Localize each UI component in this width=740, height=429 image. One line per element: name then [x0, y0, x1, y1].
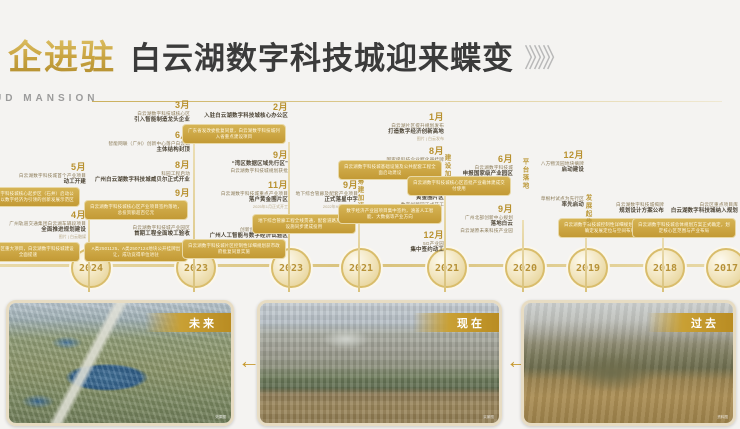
timeline-year-node[interactable]: 2018 — [645, 248, 685, 288]
event-line2: 主体结构封顶 — [82, 147, 190, 154]
photo-credit: 效果图 — [215, 415, 226, 420]
timeline-event[interactable]: 白云湖数字科技城产业园区 首期工程全面竣工验收 — [82, 225, 190, 238]
event-line2: 动工开建 — [0, 179, 86, 186]
year-label: 2023 — [279, 263, 303, 274]
event-month: 2月 — [180, 102, 288, 113]
timeline-stem — [662, 236, 664, 292]
timeline-event[interactable]: 2月 入驻白云湖数字科技城核心办公区 — [180, 102, 288, 120]
timeline-chip[interactable]: 白云湖数字科技城核心区首批产业载体建成交付使用 — [407, 176, 511, 196]
timeline-event[interactable]: 9月 — [82, 188, 190, 199]
event-line2: 黄金围片区 — [336, 195, 444, 202]
chevron-right-icon: 》》》 — [524, 38, 564, 75]
chip-text: 白云湖数字科技城核心起步区（石井）启动公示，打造以数字经济为引领的创新发展示范区 — [0, 191, 75, 203]
event-line2: 广州白云湖数字科技城威贝尔正式开业 — [82, 177, 190, 184]
year-label: 2021 — [349, 263, 373, 274]
chip-text: 白云湖数字科技城核心区产业项目签约落地，总投资额超百亿元 — [89, 204, 183, 216]
timeline-event[interactable]: 3月 白云湖数字科技城核心区 引入智能制造龙头企业 — [82, 100, 190, 124]
photo-panel-past[interactable]: 过去 资料图 — [521, 300, 736, 426]
event-line2: 入驻白云湖数字科技城核心办公区 — [180, 113, 288, 120]
headline-gold-text: 企进驻 — [0, 30, 116, 79]
panel-tag-past: 过去 — [647, 313, 733, 332]
page-header: 企进驻 白云湖数字科技城迎来蝶变 》》》 UD MANSION — [0, 24, 740, 94]
event-month: 8月 — [82, 160, 190, 171]
headline-main-title: 白云湖数字科技城迎来蝶变 — [130, 33, 514, 78]
event-month: 4月 — [0, 210, 86, 221]
event-month: 6月 — [82, 130, 190, 141]
event-line2: 白云湖数字科技城纳入规划 — [630, 208, 738, 215]
year-label: 2018 — [653, 263, 677, 274]
timeline-phase-label: 发展起步 — [583, 194, 592, 226]
chip-text: A类2501125、A类2507124地块公开挂牌出让，成功竞得单位进驻 — [89, 246, 183, 258]
panel-tag-label: 未来 — [189, 315, 217, 331]
event-line1: 白云湖数字科技城规划获批 — [180, 168, 288, 174]
chip-text: 广东省发改委批复同意，白云湖数字科技城列入省重点建设项目 — [187, 128, 281, 140]
timeline-event[interactable]: 白云区重点项目库 白云湖数字科技城纳入规划 — [630, 202, 738, 215]
year-label: 2017 — [714, 263, 738, 274]
photo-credit: 资料图 — [717, 415, 728, 420]
timeline-event[interactable]: 12月 八方物流园地块摘牌 启动建设 — [476, 150, 584, 174]
event-month: 9月 — [82, 188, 190, 199]
event-line2: 启动建设 — [476, 167, 584, 174]
chip-text: 地下综合管廊工程全线贯通，配套道路及市政设施同步建成投用 — [257, 218, 351, 230]
chip-text: 白云湖数字科技城核心区首批产业载体建成交付使用 — [412, 180, 506, 192]
timeline-stem — [522, 220, 524, 292]
timeline-event[interactable]: 9月 “湾区数据区域先行区” 白云湖数字科技城规划获批 — [180, 150, 288, 174]
timeline-event[interactable]: 5月 白云湖数字科技城首个产业项目 动工开建 — [0, 162, 86, 186]
event-line2: 首期工程全面竣工验收 — [82, 231, 190, 238]
event-line2: 全面推进规划建设 — [0, 227, 86, 234]
year-label: 2020 — [513, 263, 537, 274]
timeline-chip[interactable]: 白云湖数字科技城片区控制性详细规划获市政府批复同意实施 — [182, 239, 286, 259]
timeline-year-node[interactable]: 2021 — [427, 248, 467, 288]
timeline-chip[interactable]: 白云湖数字科技城核心起步区（石井）启动公示，打造以数字经济为引领的创新发展示范区 — [0, 187, 80, 207]
year-label: 2023 — [184, 263, 208, 274]
chip-text: 白云湖数字科技城片区控制性详细规划获市政府批复同意实施 — [187, 243, 281, 255]
timeline-stem — [585, 230, 587, 292]
panel-tag-label: 现在 — [457, 315, 485, 331]
timeline-chip[interactable]: 广东省发改委批复同意，白云湖数字科技城列入省重点建设项目 — [182, 124, 286, 144]
panel-tag-present: 现在 — [413, 313, 499, 332]
timeline-event[interactable]: 6月 智能网联（广州）创新中心落户白云湖 主体结构封顶 — [82, 130, 190, 154]
event-line2: 落地白云 — [405, 221, 513, 228]
year-label: 2021 — [435, 263, 459, 274]
event-month: 9月 — [180, 150, 288, 161]
timeline-event[interactable]: 1月 白云湖片区提升规划发布 打造数字经济创新高地 图片 | 白云发布 — [336, 112, 444, 142]
year-label: 2019 — [576, 263, 600, 274]
event-line2: 引入智能制造龙头企业 — [82, 117, 190, 124]
poster-root: 企进驻 白云湖数字科技城迎来蝶变 》》》 UD MANSION 2024 202… — [0, 0, 740, 429]
photo-panel-present[interactable]: 现在 实景图 — [257, 300, 502, 426]
chip-text: 获批白云区重大项目，白云湖数字科技城建设全面提速 — [0, 246, 75, 258]
year-label: 2024 — [79, 263, 103, 274]
timeline-year-node[interactable]: 2017 — [706, 248, 740, 288]
timeline-year-node[interactable]: 2021 — [341, 248, 381, 288]
event-line2: 集中签约动工 — [336, 247, 444, 254]
event-line2: “湾区数据区域先行区” — [180, 161, 288, 168]
timeline-chip[interactable]: 白云湖数字科技城核心区产业项目签约落地，总投资额超百亿元 — [84, 200, 188, 220]
event-month: 5月 — [0, 162, 86, 173]
timeline-chip[interactable]: 获批白云区重大项目，白云湖数字科技城建设全面提速 — [0, 242, 80, 262]
panel-tag-label: 过去 — [691, 315, 719, 331]
timeline-year-node[interactable]: 2019 — [568, 248, 608, 288]
event-month: 12月 — [476, 150, 584, 161]
event-note: 图片 | 白云融媒 — [0, 234, 86, 240]
photo-credit: 实景图 — [483, 415, 494, 420]
timeline: 2024 2023 2023 2021 2021 2020 2019 2018 … — [0, 92, 740, 292]
timeline-stem — [444, 182, 446, 292]
timeline-chip[interactable]: A类2501125、A类2507124地块公开挂牌出让，成功竞得单位进驻 — [84, 242, 188, 262]
timeline-event[interactable]: 4月 广州轨道交通集团白云湖车辆段项目 全面推进规划建设 图片 | 白云融媒 — [0, 210, 86, 240]
timeline-chip[interactable]: 白云湖数字科技城总体规划方案正式确定，划定核心区范围与产业布局 — [632, 218, 736, 238]
event-month: 1月 — [336, 112, 444, 123]
event-line2: 打造数字经济创新高地 — [336, 129, 444, 136]
event-note: 图片 | 白云发布 — [336, 136, 444, 142]
photo-panel-row: 未来 效果图 ← 现在 实景图 ← 过去 资料图 — [0, 296, 740, 429]
panel-tag-future: 未来 — [145, 313, 231, 332]
chip-text: 白云湖数字科技城总体规划方案正式确定，划定核心区范围与产业布局 — [637, 222, 731, 234]
timeline-event[interactable]: 8月 科园工程启动 广州白云湖数字科技城威贝尔正式开业 — [82, 160, 190, 184]
event-month: 3月 — [82, 100, 190, 111]
headline: 企进驻 白云湖数字科技城迎来蝶变 》》》 — [0, 30, 564, 79]
event-note: 白云湖原未来科技产业园 — [405, 228, 513, 234]
timeline-year-node[interactable]: 2020 — [505, 248, 545, 288]
photo-panel-future[interactable]: 未来 效果图 — [6, 300, 234, 426]
